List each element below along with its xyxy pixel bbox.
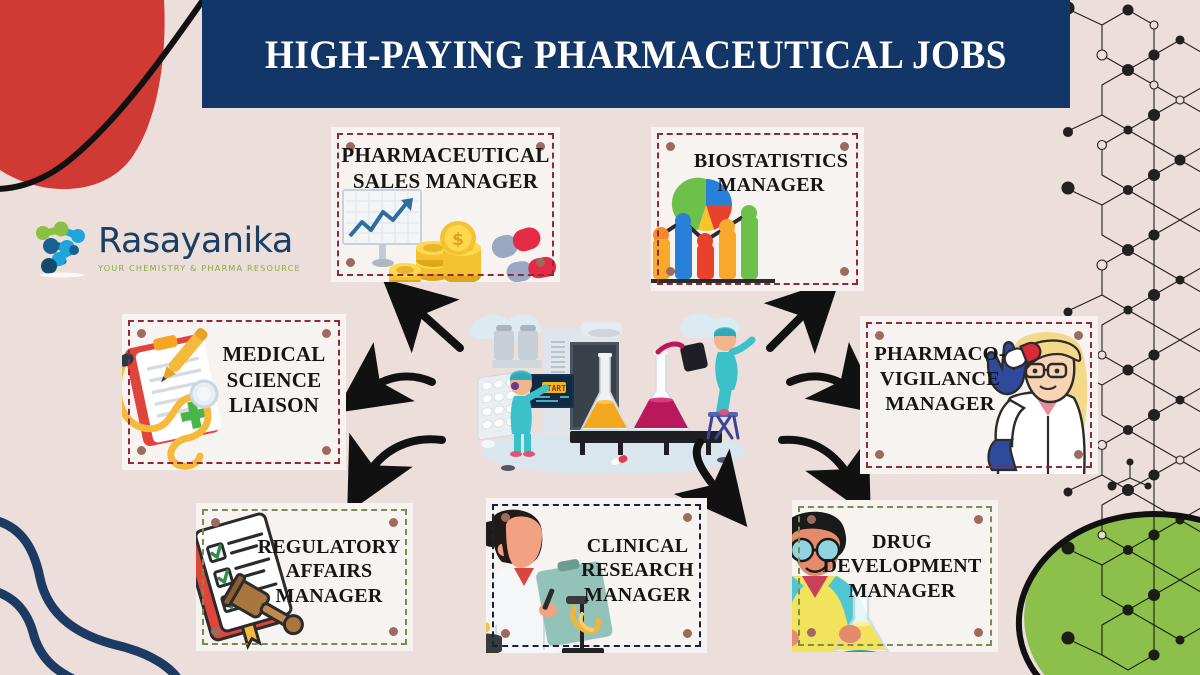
card-label-line: MEDICAL [214, 342, 334, 368]
machine-vents [551, 342, 565, 372]
card-label-regulatory: REGULATORY AFFAIRS MANAGER [255, 535, 403, 608]
corner-dot [807, 515, 816, 524]
corner-dot [666, 142, 675, 151]
tank-1 [494, 330, 514, 360]
card-drug-development-manager[interactable]: DRUG DEVELOPMENT MANAGER [792, 500, 998, 652]
corner-dot [683, 513, 692, 522]
top-left-red-blob [0, 0, 165, 189]
card-label-line: SCIENCE [214, 368, 334, 394]
card-label-line: MANAGER [814, 579, 990, 603]
corner-dot [322, 446, 331, 455]
rasayanika-molecule-logo-icon [32, 217, 96, 279]
central-laboratory-illustration: START [452, 292, 774, 484]
logo-tagline: YOUR CHEMISTRY & PHARMA RESOURCE [98, 263, 301, 273]
corner-dot [840, 267, 849, 276]
card-label-line: CLINICAL [577, 534, 698, 558]
card-label-line: BIOSTATISTICS [690, 149, 852, 173]
card-biostatistics-manager[interactable]: BIOSTATISTICS MANAGER [651, 127, 864, 291]
card-medical-science-liaison[interactable]: MEDICAL SCIENCE LIAISON [122, 314, 346, 470]
bottom-left-wave-1 [0, 518, 180, 675]
corner-dot [389, 518, 398, 527]
card-label-sales: PHARMACEUTICAL SALES MANAGER [331, 143, 560, 194]
corner-dot [683, 629, 692, 638]
card-label-line: DRUG [814, 530, 990, 554]
card-label-line: PHARMACO- [872, 342, 1008, 367]
card-pharmacovigilance-manager[interactable]: PHARMACO- VIGILANCE MANAGER [860, 316, 1098, 474]
magenta-flask [632, 351, 690, 430]
card-label-line: DEVELOPMENT [814, 554, 990, 578]
card-label-line: PHARMACEUTICAL [331, 143, 560, 169]
card-clinical-research-manager[interactable]: CLINICAL RESEARCH MANAGER [486, 498, 707, 653]
card-label-line: MANAGER [690, 173, 852, 197]
corner-dot [322, 329, 331, 338]
loose-pill [481, 440, 495, 448]
corner-dot [875, 331, 884, 340]
corner-dot [875, 450, 884, 459]
floor-dot-1 [501, 465, 515, 471]
capsule-pills [489, 225, 558, 282]
corner-dot [211, 518, 220, 527]
title-banner: HIGH-PAYING PHARMACEUTICAL JOBS [202, 0, 1070, 108]
card-label-line: MANAGER [255, 584, 403, 608]
corner-dot [974, 628, 983, 637]
card-label-biostat: BIOSTATISTICS MANAGER [690, 149, 852, 198]
card-label-clinical: CLINICAL RESEARCH MANAGER [577, 534, 698, 607]
growth-chart-coins-pills-icon: $ [337, 188, 560, 282]
card-label-line: SALES MANAGER [331, 169, 560, 195]
hand-right [839, 625, 861, 643]
logo-wordmark: Rasayanika YOUR CHEMISTRY & PHARMA RESOU… [98, 224, 301, 273]
card-label-pv: PHARMACO- VIGILANCE MANAGER [872, 342, 1008, 417]
corner-dot [137, 446, 146, 455]
corner-dot [974, 515, 983, 524]
card-label-line: AFFAIRS [255, 559, 403, 583]
face [506, 516, 542, 568]
corner-dot [346, 258, 355, 267]
svg-text:$: $ [452, 230, 464, 250]
corner-dot [536, 258, 545, 267]
card-label-line: RESEARCH [577, 558, 698, 582]
card-label-drugdev: DRUG DEVELOPMENT MANAGER [814, 530, 990, 603]
card-label-msl: MEDICAL SCIENCE LIAISON [214, 342, 334, 419]
card-label-line: REGULATORY [255, 535, 403, 559]
bottom-left-wave-2 [0, 588, 84, 675]
tank-2 [518, 330, 538, 360]
corner-dot [666, 267, 675, 276]
page-title: HIGH-PAYING PHARMACEUTICAL JOBS [265, 31, 1007, 78]
card-regulatory-affairs-manager[interactable]: REGULATORY AFFAIRS MANAGER [196, 503, 413, 651]
corner-dot [501, 629, 510, 638]
corner-dot [1074, 331, 1083, 340]
card-pharmaceutical-sales-manager[interactable]: $ [331, 127, 560, 282]
logo-brand-name: Rasayanika [98, 224, 301, 259]
corner-dot [1074, 450, 1083, 459]
brand-logo[interactable]: Rasayanika YOUR CHEMISTRY & PHARMA RESOU… [32, 212, 302, 284]
card-label-line: MANAGER [872, 392, 1008, 417]
card-label-line: VIGILANCE [872, 367, 1008, 392]
bottom-right-green-blob [1024, 516, 1200, 675]
floor-dot-2 [717, 457, 731, 463]
chart-baseline [651, 279, 775, 283]
corner-dot [807, 628, 816, 637]
conveyor-belt [570, 431, 722, 443]
corner-dot [137, 329, 146, 338]
card-label-line: LIAISON [214, 393, 334, 419]
corner-dot [389, 627, 398, 636]
scientist-right [708, 327, 752, 438]
corner-dot [501, 513, 510, 522]
infographic-canvas: HIGH-PAYING PHARMACEUTICAL JOBS Rasayani… [0, 0, 1200, 675]
corner-dot [211, 627, 220, 636]
card-label-line: MANAGER [577, 583, 698, 607]
